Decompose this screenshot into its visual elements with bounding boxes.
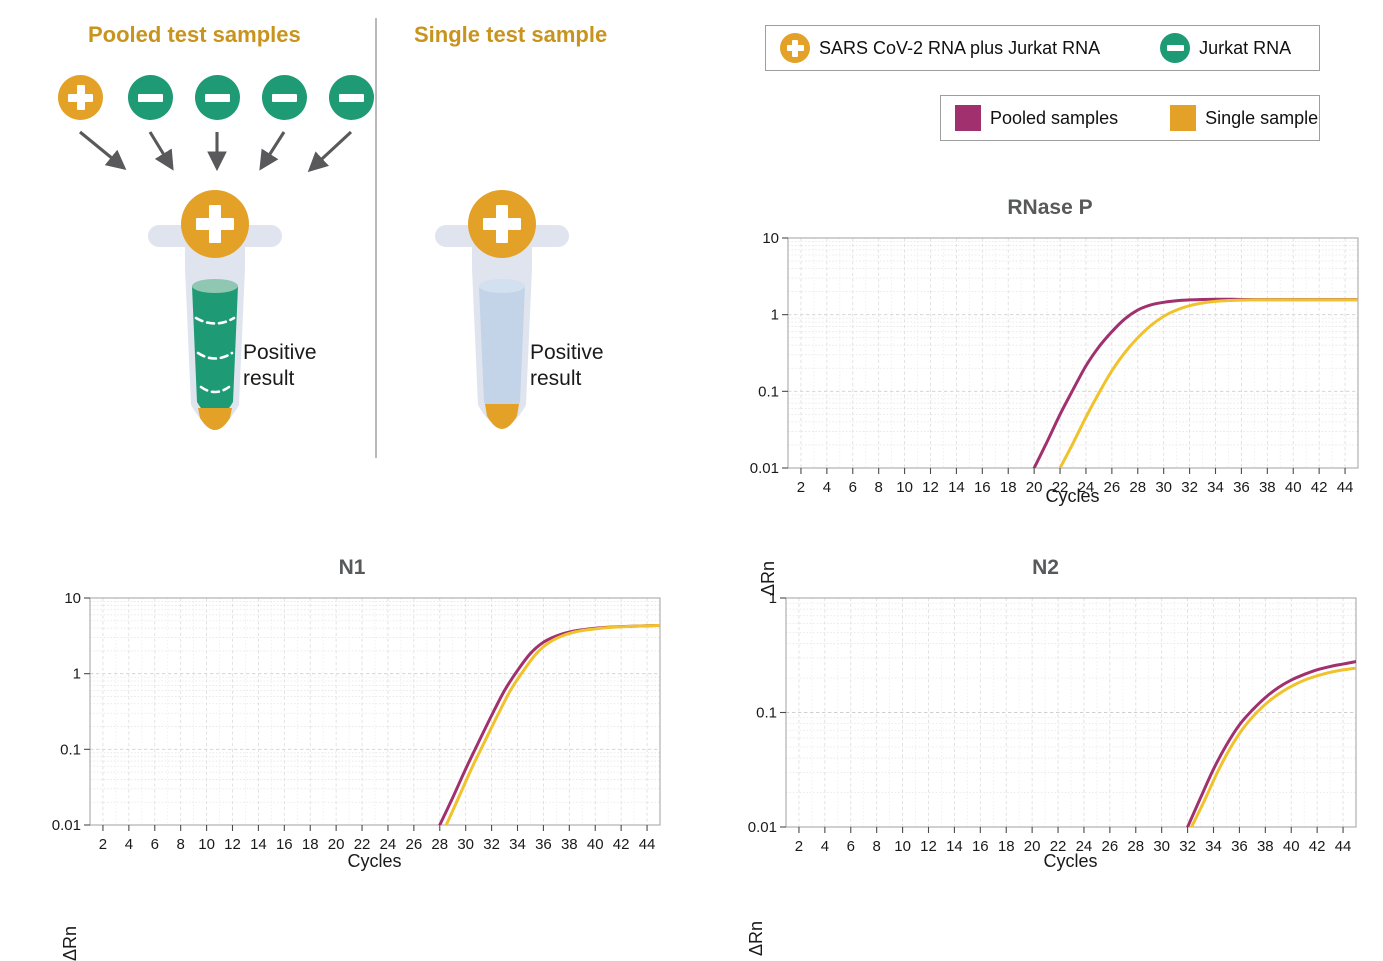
legend-item-single: Single sample <box>1170 105 1318 131</box>
legend-label: Jurkat RNA <box>1199 38 1291 59</box>
y-axis-label: ΔRn <box>746 921 767 956</box>
svg-text:10: 10 <box>762 230 779 247</box>
chart-n1: N1 ΔRn 0.010.111024681012141618202224262… <box>42 556 662 886</box>
single-result-label: Positive result <box>530 340 604 393</box>
minus-icon <box>205 94 230 102</box>
pooled-result-label: Positive result <box>243 340 317 393</box>
minus-icon <box>1167 45 1184 51</box>
legend-label: SARS CoV-2 RNA plus Jurkat RNA <box>819 38 1100 59</box>
legend-item-pooled: Pooled samples <box>955 105 1118 131</box>
svg-text:0.01: 0.01 <box>750 460 779 477</box>
minus-icon <box>272 94 297 102</box>
chart-n2: N2 ΔRn 0.010.112468101214161820222426283… <box>728 556 1363 886</box>
x-axis-label: Cycles <box>783 851 1358 872</box>
color-swatch-single <box>1170 105 1196 131</box>
legend-label: Single sample <box>1205 108 1318 129</box>
chart-rnase-p: RNase P ΔRn 0.010.1110246810121416182022… <box>740 196 1360 516</box>
minus-circle-icon <box>1160 33 1190 63</box>
plus-circle-icon <box>780 33 810 63</box>
plus-icon <box>496 205 508 243</box>
legend-item-sars: SARS CoV-2 RNA plus Jurkat RNA <box>780 33 1100 63</box>
svg-text:10: 10 <box>64 590 81 607</box>
svg-text:0.1: 0.1 <box>758 383 779 400</box>
svg-text:0.01: 0.01 <box>748 819 777 836</box>
sample-circle-minus-1 <box>128 75 173 120</box>
sample-circle-minus-4 <box>329 75 374 120</box>
svg-text:1: 1 <box>769 590 777 607</box>
single-column-title: Single test sample <box>414 22 607 48</box>
plot-area-n2: 0.010.1124681012141618202224262830323436… <box>728 556 1363 886</box>
plus-icon <box>209 205 221 243</box>
x-axis-label: Cycles <box>785 486 1360 507</box>
svg-text:1: 1 <box>771 307 779 324</box>
schematic-panel: Pooled test samples Single test sample <box>0 0 700 500</box>
svg-text:1: 1 <box>73 666 81 683</box>
plus-icon <box>77 85 85 110</box>
minus-icon <box>339 94 364 102</box>
sample-circle-minus-2 <box>195 75 240 120</box>
single-tube-illustration <box>427 190 577 455</box>
series-legend: Pooled samples Single sample <box>940 95 1320 141</box>
svg-text:0.1: 0.1 <box>756 705 777 722</box>
positive-badge <box>181 190 249 258</box>
sample-circle-minus-3 <box>262 75 307 120</box>
svg-text:0.01: 0.01 <box>52 817 81 834</box>
y-axis-label: ΔRn <box>60 926 81 961</box>
positive-badge <box>468 190 536 258</box>
pooled-column-title: Pooled test samples <box>88 22 301 48</box>
legend-label: Pooled samples <box>990 108 1118 129</box>
x-axis-label: Cycles <box>87 851 662 872</box>
plus-icon <box>792 40 798 57</box>
sample-circle-plus-1 <box>58 75 103 120</box>
minus-icon <box>138 94 163 102</box>
sample-type-legend: SARS CoV-2 RNA plus Jurkat RNA Jurkat RN… <box>765 25 1320 71</box>
legend-item-jurkat: Jurkat RNA <box>1160 33 1291 63</box>
column-divider <box>375 18 377 458</box>
color-swatch-pooled <box>955 105 981 131</box>
plot-area-rnase-p: 0.010.1110246810121416182022242628303234… <box>740 196 1360 516</box>
svg-text:0.1: 0.1 <box>60 741 81 758</box>
pooled-tube-illustration <box>140 190 290 455</box>
plot-area-n1: 0.010.1110246810121416182022242628303234… <box>42 556 662 886</box>
